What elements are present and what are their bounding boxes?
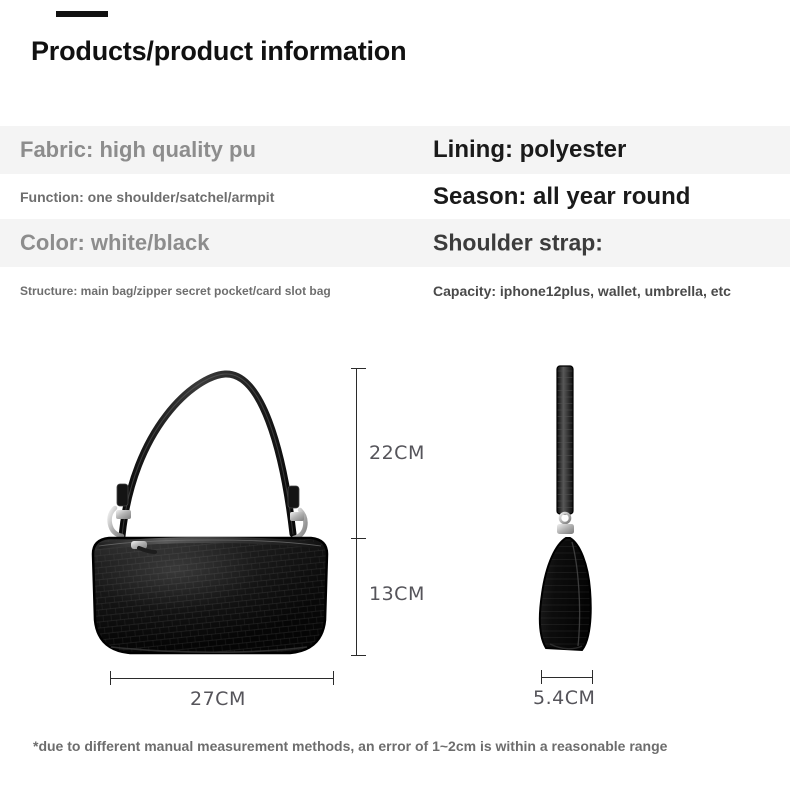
dimension-label-body-height: 13CM [369, 583, 425, 605]
spec-row-fabric-lining: Fabric: high quality pu Lining: polyeste… [0, 126, 790, 174]
depth-tick-right [592, 670, 593, 684]
dimension-tick-bottom [351, 655, 366, 656]
spec-shoulder-strap-label: Shoulder strap: [433, 230, 603, 257]
dimension-label-depth: 5.4CM [533, 687, 595, 709]
spec-lining-label: Lining: polyester [433, 136, 626, 164]
header-dash-icon [56, 11, 108, 17]
spec-function-label: Function: one shoulder/satchel/armpit [20, 189, 274, 205]
specification-table: Fabric: high quality pu Lining: polyeste… [0, 126, 790, 315]
measurement-disclaimer: *due to different manual measurement met… [33, 738, 667, 754]
spec-fabric-label: Fabric: high quality pu [20, 137, 256, 163]
width-tick-left [110, 671, 111, 685]
spec-structure-label: Structure: main bag/zipper secret pocket… [20, 284, 331, 298]
width-dimension-line [110, 678, 333, 679]
side-strap-clasp [557, 513, 574, 534]
product-image-area: 22CM 13CM 27CM 5.4CM [0, 318, 790, 718]
spec-capacity-label: Capacity: iphone12plus, wallet, umbrella… [433, 283, 731, 299]
spec-row-structure-capacity: Structure: main bag/zipper secret pocket… [0, 267, 790, 315]
spec-color-label: Color: white/black [20, 230, 209, 256]
spec-row-function-season: Function: one shoulder/satchel/armpit Se… [0, 174, 790, 219]
vertical-dimension-line [356, 368, 357, 655]
depth-dimension-line [541, 677, 592, 678]
depth-tick-left [541, 670, 542, 684]
dimension-label-strap-drop: 22CM [369, 442, 425, 464]
product-front-view-image [85, 358, 335, 678]
spec-season-label: Season: all year round [433, 183, 690, 211]
product-side-view-image [520, 358, 620, 678]
dimension-label-width: 27CM [190, 688, 246, 710]
dimension-tick-top [351, 368, 366, 369]
page-title: Products/product information [31, 36, 406, 67]
width-tick-right [333, 671, 334, 685]
spec-row-color-strap: Color: white/black Shoulder strap: [0, 219, 790, 267]
dimension-tick-middle [351, 538, 366, 539]
